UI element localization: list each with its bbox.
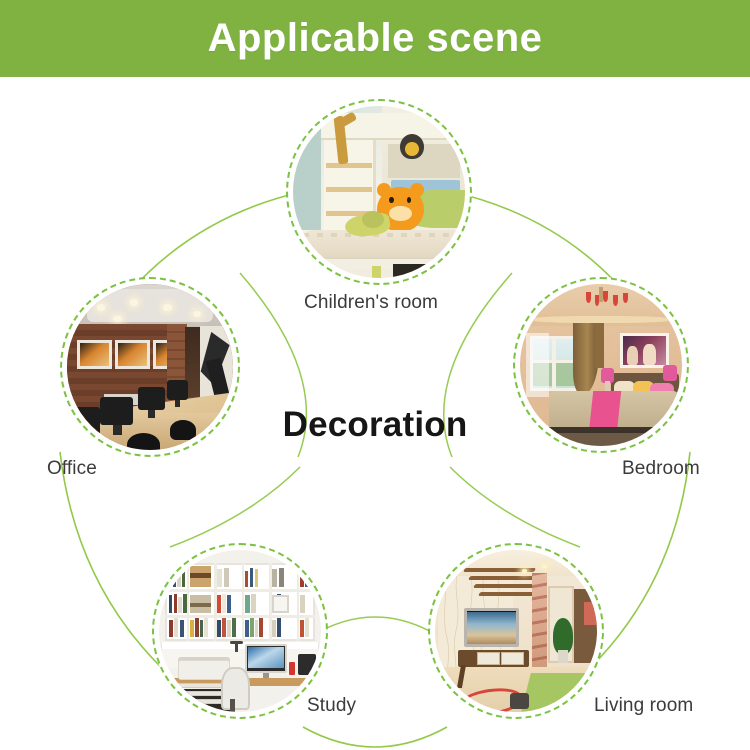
scene-photo-childrens-room xyxy=(293,106,465,278)
page-title: Applicable scene xyxy=(208,16,543,61)
scene-node-study[interactable] xyxy=(152,543,328,719)
scene-label-study: Study xyxy=(307,695,356,717)
page-header: Applicable scene xyxy=(0,0,750,77)
scene-photo-study xyxy=(159,550,321,712)
scene-diagram: Children's room xyxy=(0,77,750,750)
scene-ring-study xyxy=(152,543,328,719)
scene-ring-living-room xyxy=(428,543,604,719)
scene-ring-childrens-room xyxy=(286,99,472,285)
scene-photo-living-room xyxy=(435,550,597,712)
scene-node-childrens-room[interactable] xyxy=(286,99,472,285)
scene-label-bedroom: Bedroom xyxy=(622,458,700,480)
scene-label-office: Office xyxy=(47,458,97,480)
scene-label-childrens-room: Children's room xyxy=(304,292,438,314)
scene-label-living-room: Living room xyxy=(594,695,693,717)
diagram-center-label: Decoration xyxy=(0,405,750,445)
scene-node-living-room[interactable] xyxy=(428,543,604,719)
